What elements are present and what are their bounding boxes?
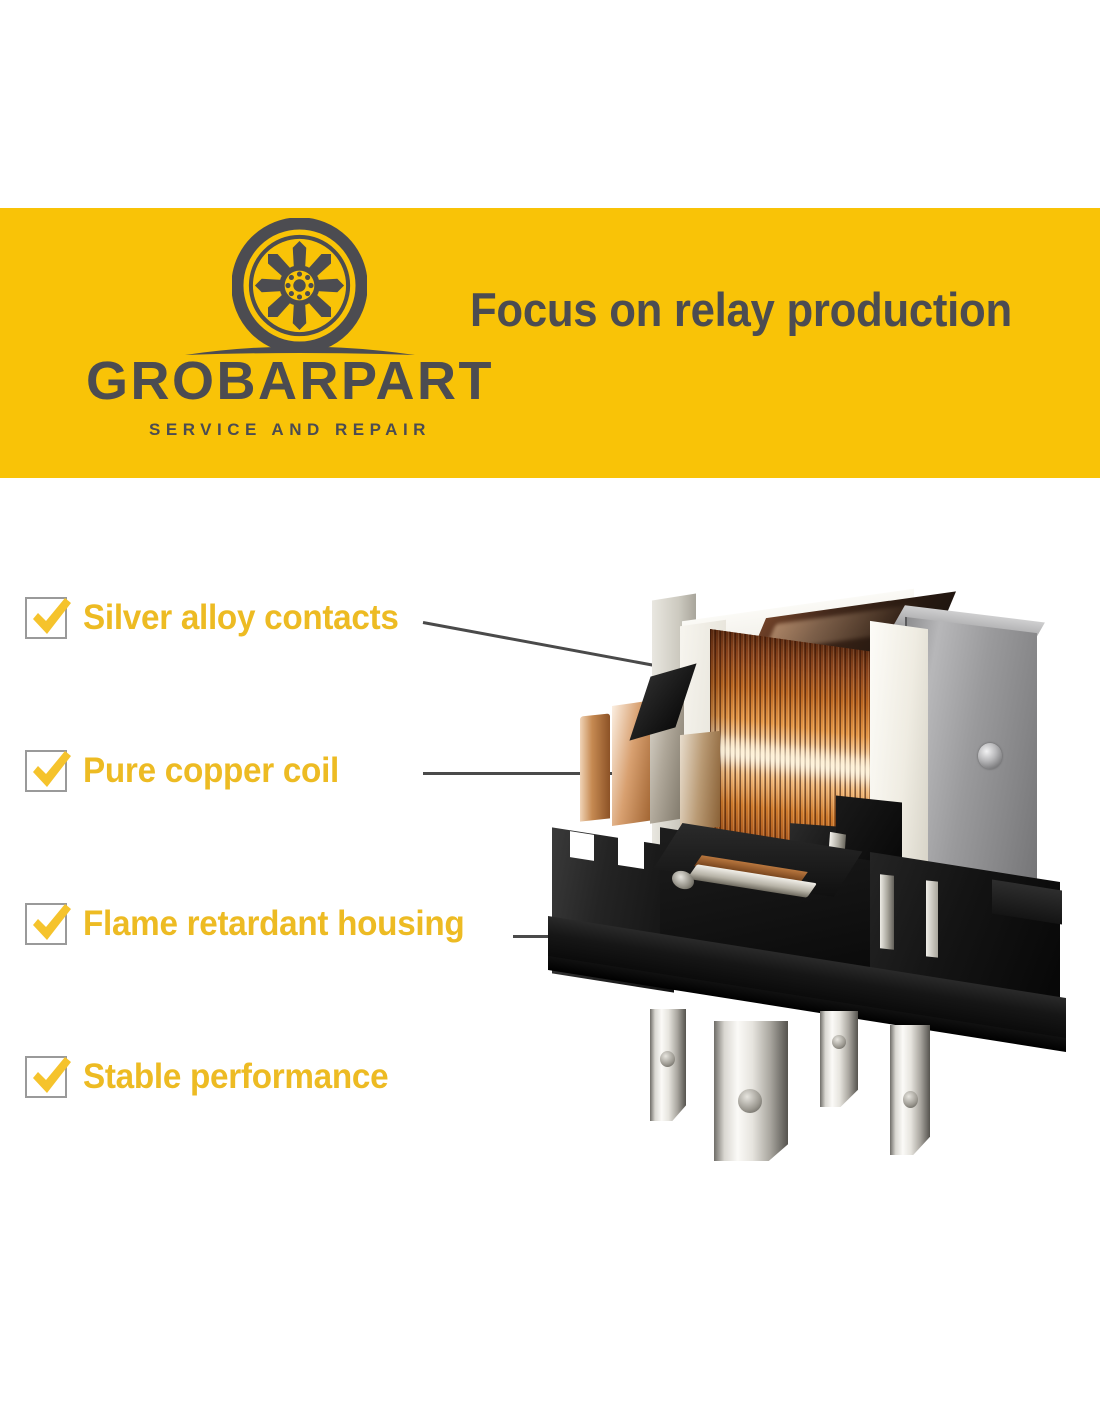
checkbox-checked: [25, 903, 67, 945]
banner-headline: Focus on relay production: [470, 282, 1047, 337]
brand-name: GROBARPART: [40, 354, 540, 408]
checkmark-icon: [25, 592, 75, 642]
checkmark-icon: [25, 898, 75, 948]
terminal-hole: [738, 1089, 762, 1113]
contact-spring-c: [680, 731, 720, 831]
interior-pin-c: [926, 880, 938, 957]
spade-terminal: [820, 1011, 858, 1107]
checkbox-checked: [25, 750, 67, 792]
wheel-rim-icon: [232, 218, 367, 353]
feature-item-silver-alloy-contacts: Silver alloy contacts: [25, 595, 415, 641]
feature-item-stable-performance: Stable performance: [25, 1054, 404, 1100]
brand-lockup: GROBARPART SERVICE AND REPAIR: [40, 214, 540, 472]
relay-product-image: [540, 585, 1080, 1245]
terminal-hole: [903, 1091, 918, 1108]
checkbox-checked: [25, 597, 67, 639]
bracket-rivet: [978, 743, 1002, 769]
spade-terminal: [890, 1025, 930, 1155]
feature-label: Stable performance: [83, 1057, 388, 1097]
checkbox-checked: [25, 1056, 67, 1098]
feature-label: Flame retardant housing: [83, 904, 464, 944]
brand-tagline: SERVICE AND REPAIR: [40, 420, 540, 440]
housing-notch: [570, 831, 594, 861]
feature-item-pure-copper-coil: Pure copper coil: [25, 748, 352, 794]
feature-item-flame-retardant-housing: Flame retardant housing: [25, 901, 485, 947]
terminal-hole: [660, 1051, 675, 1067]
feature-label: Silver alloy contacts: [83, 598, 399, 638]
brand-banner: GROBARPART SERVICE AND REPAIR Focus on r…: [0, 208, 1100, 478]
checkmark-icon: [25, 1051, 75, 1101]
interior-pin-b: [880, 874, 894, 949]
terminal-hole: [832, 1035, 846, 1049]
product-feature-graphic: GROBARPART SERVICE AND REPAIR Focus on r…: [0, 0, 1100, 1422]
checkmark-icon: [25, 745, 75, 795]
contact-spring-a: [580, 713, 610, 821]
feature-label: Pure copper coil: [83, 751, 339, 791]
housing-notch: [618, 837, 644, 869]
